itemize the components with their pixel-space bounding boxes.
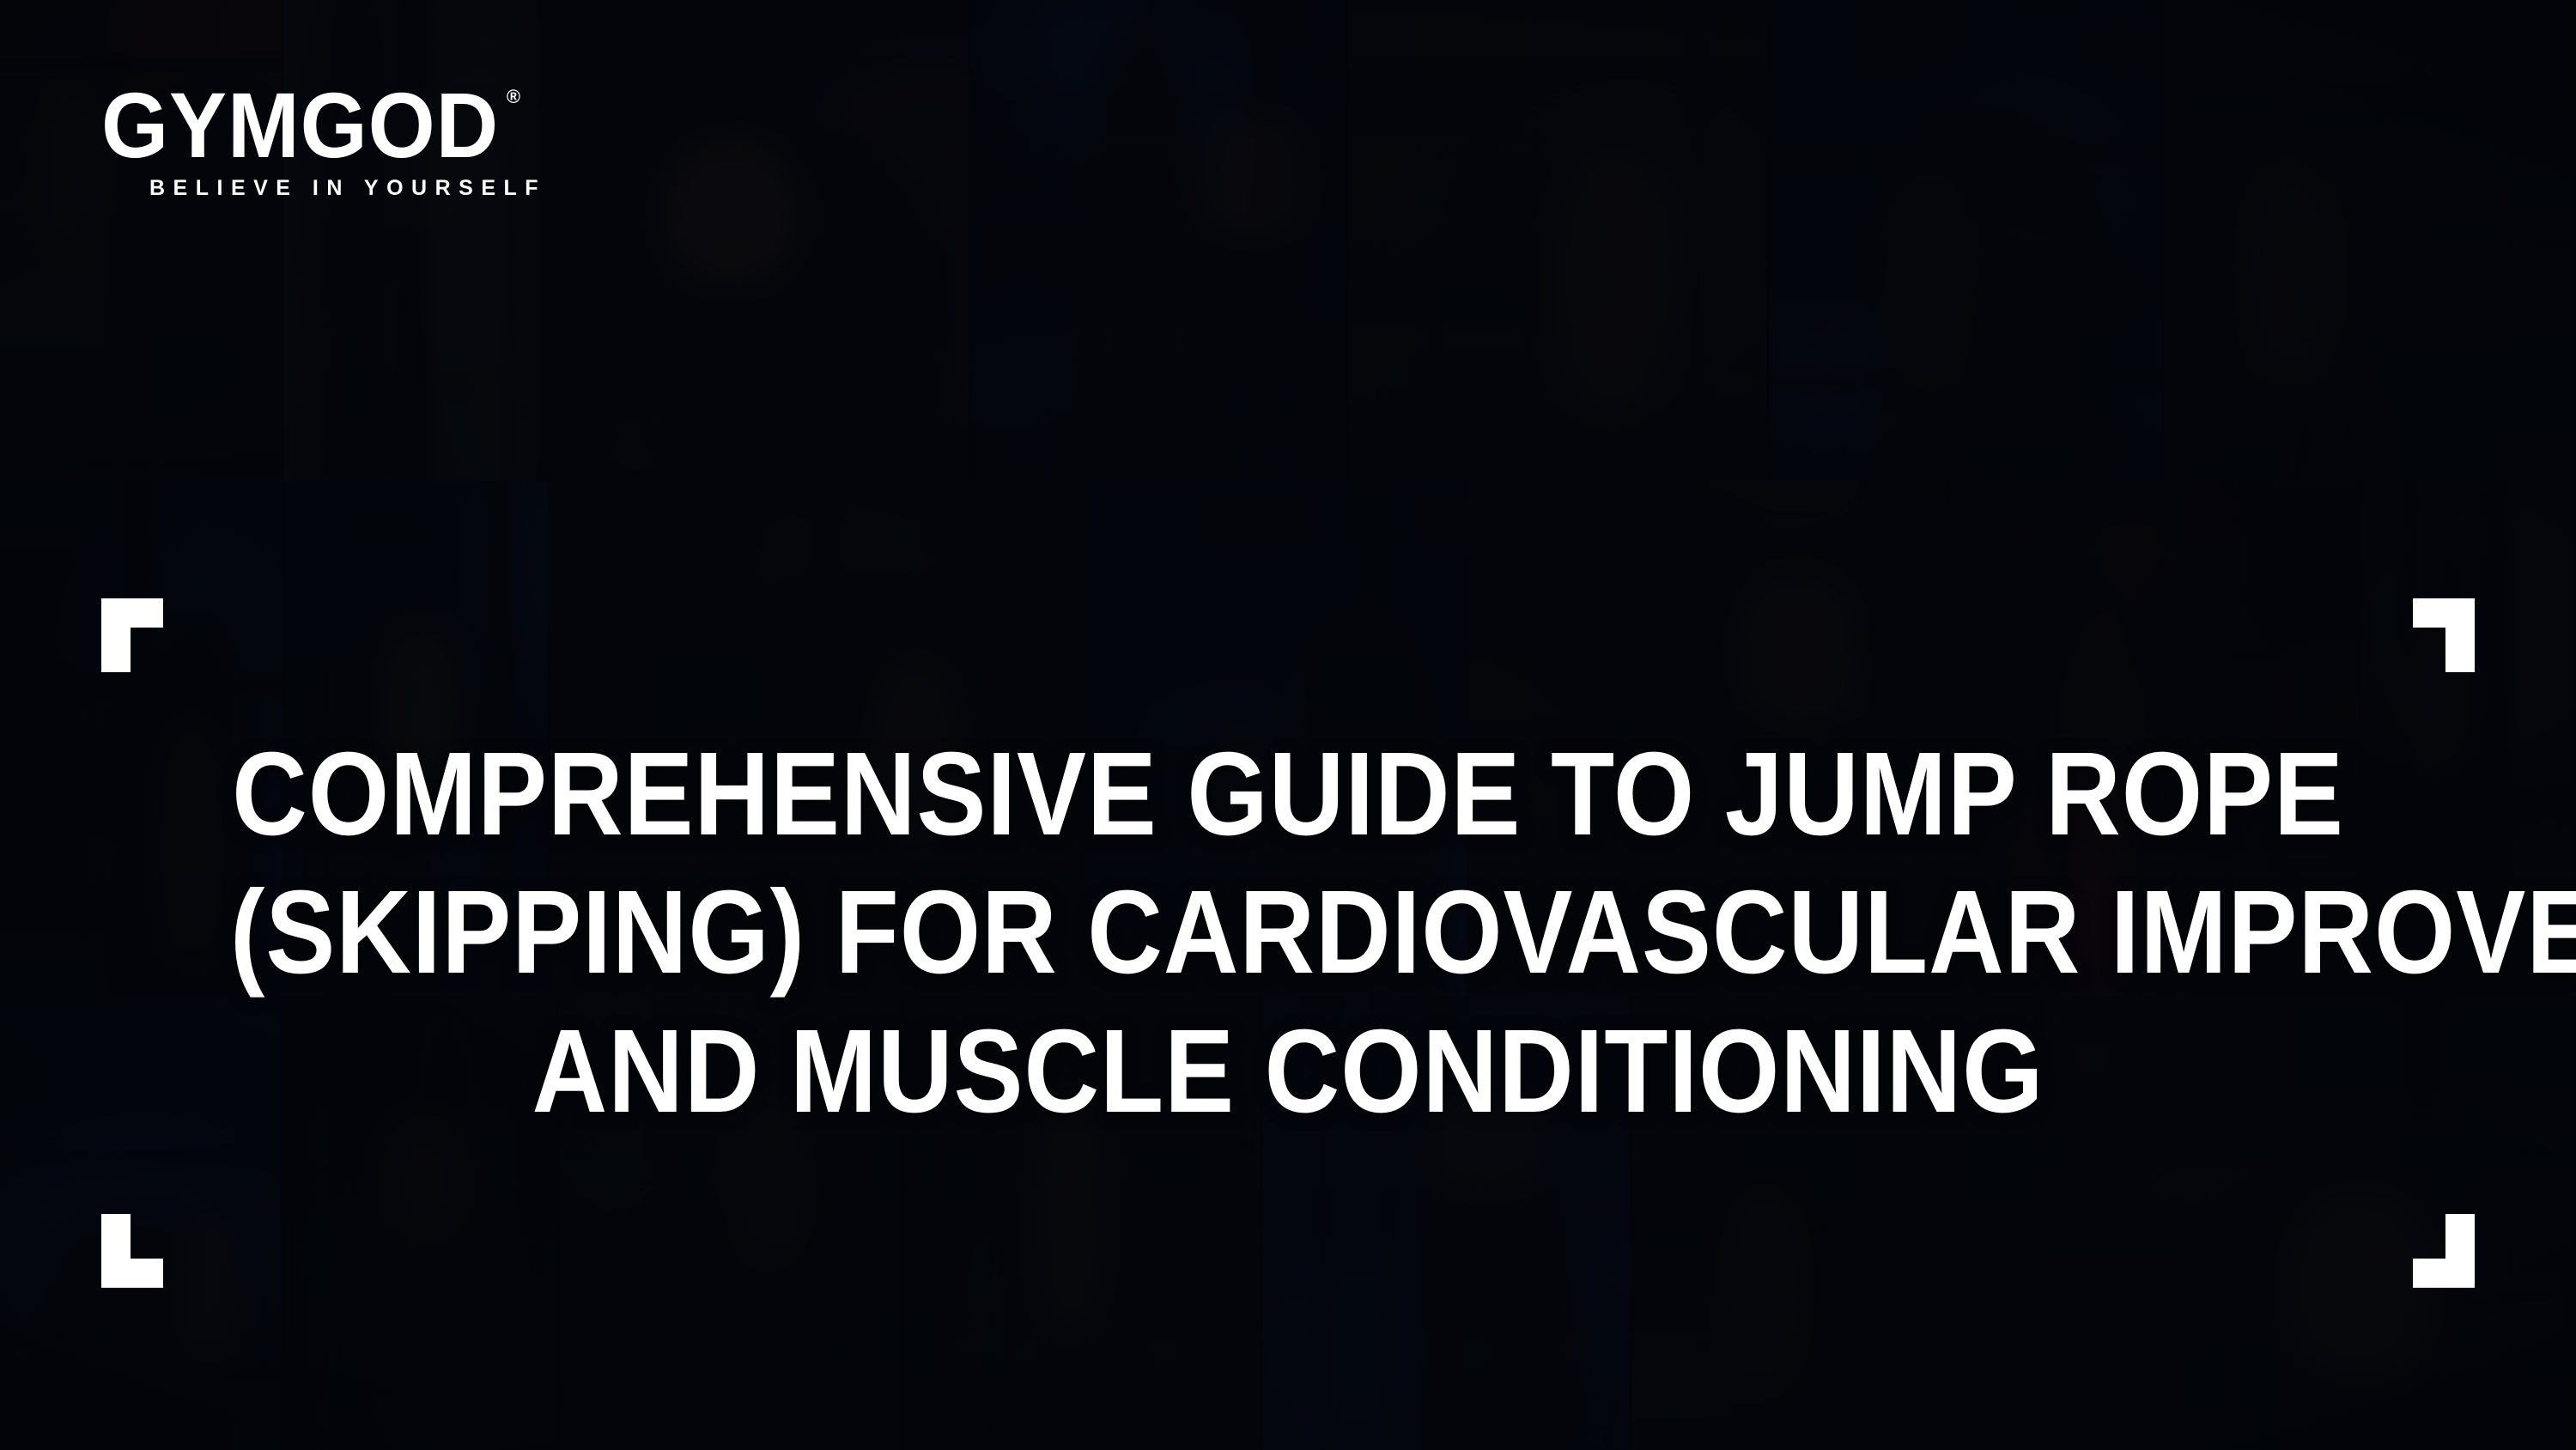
collage-tile-gym-rack-blue-neon <box>970 0 1348 481</box>
page-title: COMPREHENSIVE GUIDE TO JUMP ROPE (SKIPPI… <box>86 725 2490 1141</box>
gym-photo <box>283 0 541 481</box>
gym-photo <box>541 0 970 481</box>
collage-tile-athlete-seated-bench <box>1348 0 1769 481</box>
collage-tile-athlete-vest-portrait <box>2164 0 2576 481</box>
brand-logo: GYMGOD ® BELIEVE IN YOURSELF <box>101 82 546 201</box>
gym-photo <box>1348 0 1769 481</box>
gym-photo <box>1769 0 2164 481</box>
bracket-arm-vertical <box>2445 598 2475 672</box>
gym-photo <box>0 0 283 481</box>
bracket-arm-vertical <box>2445 1214 2475 1288</box>
corner-bracket-top-left <box>101 598 163 672</box>
collage-tile-athlete-rowing-machine <box>283 0 541 481</box>
corner-bracket-bottom-right <box>2413 1214 2475 1288</box>
gym-photo <box>970 0 1348 481</box>
bracket-arm-vertical <box>101 598 131 672</box>
corner-bracket-bottom-left <box>101 1214 163 1288</box>
hero-banner: GYMGOD ® BELIEVE IN YOURSELF COMPREHENSI… <box>0 0 2576 1450</box>
registered-trademark-icon: ® <box>507 88 520 106</box>
collage-row-top <box>0 0 2576 481</box>
page-title-line-1: COMPREHENSIVE GUIDE TO JUMP ROPE <box>230 725 2346 864</box>
page-title-line-3: AND MUSCLE CONDITIONING <box>230 1003 2346 1141</box>
gym-photo <box>2164 0 2576 481</box>
logo-wordmark-text: GYMGOD <box>101 73 499 177</box>
page-title-line-2: (SKIPPING) FOR CARDIOVASCULAR IMPROVEMEN… <box>230 864 2346 1002</box>
collage-tile-athlete-portrait-red-neon <box>0 0 283 481</box>
bracket-arm-vertical <box>101 1214 131 1288</box>
collage-tile-gym-floor-blue-glow <box>1769 0 2164 481</box>
logo-wordmark: GYMGOD ® <box>101 82 499 167</box>
collage-tile-athlete-plate-carry-magenta <box>541 0 970 481</box>
brand-tagline: BELIEVE IN YOURSELF <box>149 176 546 201</box>
corner-bracket-top-right <box>2413 598 2475 672</box>
